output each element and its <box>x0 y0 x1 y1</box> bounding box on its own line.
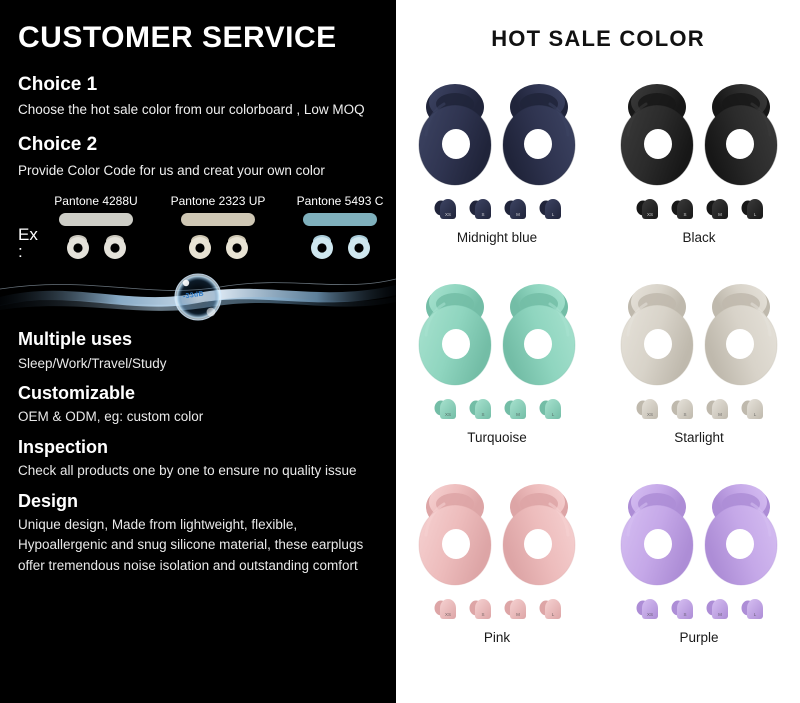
ear-tip-icon: L <box>739 596 765 622</box>
feature-text: Sleep/Work/Travel/Study <box>18 354 378 374</box>
earplug-pair-stage <box>615 68 783 196</box>
svg-text:S: S <box>683 212 686 217</box>
color-option-midnight-blue[interactable]: XS S M L <box>396 68 598 268</box>
choice-block-2: Choice 2 Provide Color Code for us and c… <box>18 134 396 182</box>
ear-tip-icon: XS <box>634 396 660 422</box>
feature-text: OEM & ODM, eg: custom color <box>18 407 378 427</box>
feature-heading: Design <box>18 491 396 513</box>
color-swatch-1 <box>59 213 133 226</box>
earplug-pair-stage <box>413 68 581 196</box>
color-swatch-2 <box>181 213 255 226</box>
ear-tip-icon: XS <box>634 196 660 222</box>
earplug-icon <box>416 73 494 191</box>
pantone-option-1: Pantone 4288U <box>40 195 152 261</box>
ear-tip-size-row: XS S M L <box>432 592 563 622</box>
color-name-label: Midnight blue <box>457 231 537 245</box>
ear-tip-icon: M <box>704 596 730 622</box>
mini-earplug-icon <box>100 231 130 261</box>
svg-text:XS: XS <box>444 412 450 417</box>
earplug-icon <box>500 273 578 391</box>
svg-text:M: M <box>516 412 520 417</box>
ear-tip-icon: S <box>467 396 493 422</box>
ear-tip-icon: XS <box>432 196 458 222</box>
choice-1-text: Choose the hot sale color from our color… <box>18 100 388 121</box>
feature-design: Design Unique design, Made from lightwei… <box>18 491 396 576</box>
earplug-icon <box>702 73 780 191</box>
mini-earplug-pair-2 <box>185 231 252 261</box>
feature-inspection: Inspection Check all products one by one… <box>18 437 396 482</box>
svg-text:S: S <box>481 612 484 617</box>
sound-wave-decoration: -33dB <box>0 263 396 321</box>
svg-text:XS: XS <box>444 212 450 217</box>
color-option-pink[interactable]: XS S M L <box>396 468 598 668</box>
ear-tip-icon: S <box>669 196 695 222</box>
mini-earplug-icon <box>307 231 337 261</box>
color-grid: XS S M L <box>396 68 800 668</box>
choice-block-1: Choice 1 Choose the hot sale color from … <box>18 74 396 122</box>
svg-text:M: M <box>718 212 722 217</box>
ear-tip-icon: XS <box>634 596 660 622</box>
ear-tip-icon: S <box>467 596 493 622</box>
ear-tip-icon: L <box>739 196 765 222</box>
svg-text:S: S <box>481 212 484 217</box>
ear-tip-icon: XS <box>432 396 458 422</box>
feature-heading: Customizable <box>18 383 396 405</box>
earplug-icon <box>618 273 696 391</box>
color-name-label: Turquoise <box>467 431 527 445</box>
ear-tip-size-row: XS S M L <box>432 192 563 222</box>
choice-2-heading: Choice 2 <box>18 134 396 156</box>
svg-text:XS: XS <box>646 412 652 417</box>
ear-tip-size-row: XS S M L <box>634 592 765 622</box>
choice-2-text: Provide Color Code for us and creat your… <box>18 161 388 182</box>
svg-text:M: M <box>516 212 520 217</box>
svg-text:S: S <box>683 412 686 417</box>
earplug-pair <box>416 273 578 391</box>
earplug-icon <box>618 73 696 191</box>
feature-text: Unique design, Made from lightweight, fl… <box>18 515 378 576</box>
svg-text:M: M <box>718 612 722 617</box>
page-title: CUSTOMER SERVICE <box>18 22 396 54</box>
ear-tip-icon: S <box>669 596 695 622</box>
svg-text:XS: XS <box>646 212 652 217</box>
earplug-pair-stage <box>615 468 783 596</box>
earplug-icon <box>702 273 780 391</box>
earplug-icon <box>416 473 494 591</box>
mini-earplug-icon <box>63 231 93 261</box>
earplug-pair <box>416 473 578 591</box>
color-option-purple[interactable]: XS S M L <box>598 468 800 668</box>
earplug-pair-stage <box>413 268 581 396</box>
ear-tip-icon: S <box>669 396 695 422</box>
feature-text: Check all products one by one to ensure … <box>18 461 378 481</box>
earplug-icon <box>618 473 696 591</box>
mini-earplug-icon <box>185 231 215 261</box>
ear-tip-icon: L <box>739 396 765 422</box>
svg-text:S: S <box>683 612 686 617</box>
earplug-pair <box>416 73 578 191</box>
ear-tip-icon: M <box>502 396 528 422</box>
ear-tip-icon: M <box>502 596 528 622</box>
earplug-pair <box>618 73 780 191</box>
mini-earplug-pair-1 <box>63 231 130 261</box>
pantone-code-2: Pantone 2323 UP <box>171 195 266 207</box>
product-infographic: CUSTOMER SERVICE Choice 1 Choose the hot… <box>0 0 800 703</box>
mini-earplug-pair-3 <box>307 231 374 261</box>
color-option-starlight[interactable]: XS S M L <box>598 268 800 468</box>
earplug-icon <box>416 273 494 391</box>
color-name-label: Pink <box>484 631 510 645</box>
ear-tip-size-row: XS S M L <box>634 392 765 422</box>
ear-tip-icon: M <box>502 196 528 222</box>
ear-tip-icon: XS <box>432 596 458 622</box>
earplug-pair <box>618 473 780 591</box>
feature-customizable: Customizable OEM & ODM, eg: custom color <box>18 383 396 428</box>
pantone-option-3: Pantone 5493 C <box>284 195 396 261</box>
mini-earplug-icon <box>344 231 374 261</box>
pantone-code-3: Pantone 5493 C <box>297 195 384 207</box>
ear-tip-icon: L <box>537 596 563 622</box>
pantone-code-1: Pantone 4288U <box>54 195 137 207</box>
choice-1-heading: Choice 1 <box>18 74 396 96</box>
svg-text:M: M <box>516 612 520 617</box>
hot-sale-color-panel: HOT SALE COLOR <box>396 0 800 703</box>
earplug-pair <box>618 273 780 391</box>
feature-heading: Inspection <box>18 437 396 459</box>
earplug-icon <box>500 473 578 591</box>
svg-text:S: S <box>481 412 484 417</box>
color-swatch-3 <box>303 213 377 226</box>
ear-tip-icon: L <box>537 396 563 422</box>
feature-multiple-uses: Multiple uses Sleep/Work/Travel/Study <box>18 329 396 374</box>
svg-text:XS: XS <box>444 612 450 617</box>
mini-earplug-icon <box>222 231 252 261</box>
ear-tip-icon: L <box>537 196 563 222</box>
color-option-black[interactable]: XS S M L <box>598 68 800 268</box>
hot-sale-color-title: HOT SALE COLOR <box>396 26 800 52</box>
earplug-icon <box>500 73 578 191</box>
color-name-label: Starlight <box>674 431 724 445</box>
pantone-example-row: Ex : Pantone 4288U <box>18 195 396 261</box>
ear-tip-size-row: XS S M L <box>634 192 765 222</box>
color-name-label: Black <box>682 231 715 245</box>
color-name-label: Purple <box>679 631 718 645</box>
svg-text:M: M <box>718 412 722 417</box>
pantone-swatch-group: Pantone 4288U <box>40 195 396 261</box>
ear-tip-icon: M <box>704 396 730 422</box>
ear-tip-size-row: XS S M L <box>432 392 563 422</box>
ear-tip-icon: M <box>704 196 730 222</box>
ear-tip-icon: S <box>467 196 493 222</box>
color-option-turquoise[interactable]: XS S M L <box>396 268 598 468</box>
example-label: Ex : <box>18 226 38 261</box>
earplug-pair-stage <box>413 468 581 596</box>
pantone-option-2: Pantone 2323 UP <box>162 195 274 261</box>
earplug-icon <box>702 473 780 591</box>
feature-heading: Multiple uses <box>18 329 396 351</box>
customer-service-panel: CUSTOMER SERVICE Choice 1 Choose the hot… <box>0 0 396 703</box>
earplug-pair-stage <box>615 268 783 396</box>
svg-text:XS: XS <box>646 612 652 617</box>
